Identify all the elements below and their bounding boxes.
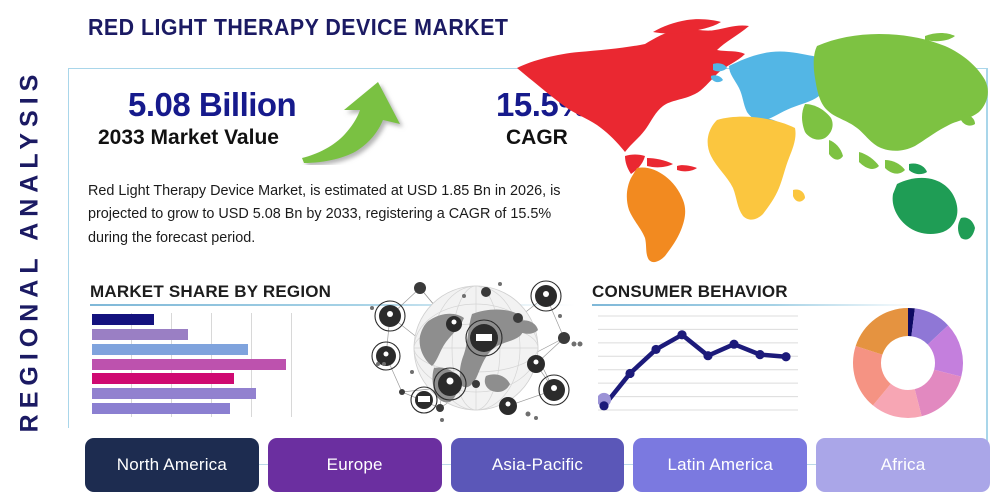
bar-chart-bar (92, 344, 248, 355)
market-value-label: 2033 Market Value (98, 126, 279, 150)
bar-chart-bar (92, 314, 154, 325)
region-button-row: North AmericaEuropeAsia-PacificLatin Ame… (85, 438, 990, 492)
consumer-behavior-heading: CONSUMER BEHAVIOR (592, 282, 788, 302)
bar-chart-bar (92, 329, 188, 340)
region-button-label: Latin America (667, 455, 773, 475)
donut-segment (856, 308, 908, 355)
bar-chart-bar (92, 403, 230, 414)
consumer-behavior-line-chart (598, 308, 798, 418)
page-title: RED LIGHT THERAPY DEVICE MARKET (88, 14, 508, 41)
consumer-behavior-donut-chart (850, 305, 966, 421)
bar-chart-bar (92, 373, 234, 384)
growth-arrow-icon (300, 80, 410, 165)
bar-chart-bar (92, 388, 256, 399)
region-button-label: Europe (327, 455, 383, 475)
region-button-label: Africa (881, 455, 926, 475)
region-button-latin-america[interactable]: Latin America (633, 438, 807, 492)
region-button-label: Asia-Pacific (492, 455, 583, 475)
vertical-section-label-text: REGIONAL ANALYSIS (16, 68, 45, 432)
infographic-root: REGIONAL ANALYSIS RED LIGHT THERAPY DEVI… (0, 0, 1000, 500)
market-share-heading: MARKET SHARE BY REGION (90, 282, 331, 302)
market-share-bar-chart (92, 313, 292, 417)
region-button-north-america[interactable]: North America (85, 438, 259, 492)
market-value-number: 5.08 Billion (128, 86, 296, 124)
region-button-label: North America (117, 455, 227, 475)
bar-chart-bar (92, 359, 286, 370)
donut-segment (915, 370, 962, 417)
world-map-icon (505, 8, 997, 266)
vertical-section-label: REGIONAL ANALYSIS (0, 0, 62, 500)
kpi-block: 5.08 Billion 2033 Market Value 15.5% CAG… (88, 90, 508, 170)
region-button-europe[interactable]: Europe (268, 438, 442, 492)
region-button-asia-pacific[interactable]: Asia-Pacific (451, 438, 625, 492)
region-button-africa[interactable]: Africa (816, 438, 990, 492)
global-network-globe-icon (368, 272, 583, 427)
